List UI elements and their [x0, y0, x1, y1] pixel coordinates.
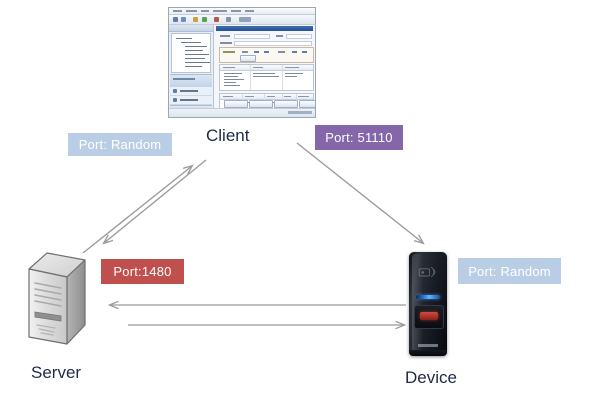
client-data-grid-top: [219, 64, 314, 91]
client-sidebar: [169, 25, 214, 108]
rfid-card-icon: [418, 264, 438, 280]
client-statusbar: [169, 108, 315, 117]
client-content-pane: [214, 25, 315, 108]
arrow-client-to-server: [104, 160, 206, 243]
port-label-device-random: Port: Random: [458, 258, 561, 284]
client-options-group: [219, 47, 314, 63]
client-window-titlebar: [216, 26, 313, 31]
arrow-client-to-device: [297, 143, 423, 243]
client-tree-panel: [171, 33, 211, 73]
node-label-device: Device: [405, 368, 457, 388]
fingerprint-scanner: [414, 305, 444, 329]
client-menubar: [169, 8, 315, 15]
port-label-client-51110: Port: 51110: [315, 125, 403, 150]
diagram-canvas: Port: Random Port: 51110 Port:1480 Port:…: [0, 0, 600, 420]
node-label-server: Server: [31, 363, 81, 383]
client-dialog-buttons: [216, 100, 313, 107]
client-application-screenshot: [168, 7, 316, 118]
status-led: [416, 295, 440, 299]
node-label-client: Client: [206, 126, 249, 146]
fingerprint-terminal-icon: [409, 252, 447, 356]
server-tower-icon: [24, 247, 90, 355]
port-label-client-random: Port: Random: [68, 133, 172, 156]
arrow-server-to-client: [83, 166, 192, 253]
client-toolbar: [169, 15, 315, 25]
device-brand-logo: [418, 344, 438, 347]
client-nav-list: [170, 74, 212, 107]
port-label-server-1480: Port:1480: [101, 259, 184, 284]
